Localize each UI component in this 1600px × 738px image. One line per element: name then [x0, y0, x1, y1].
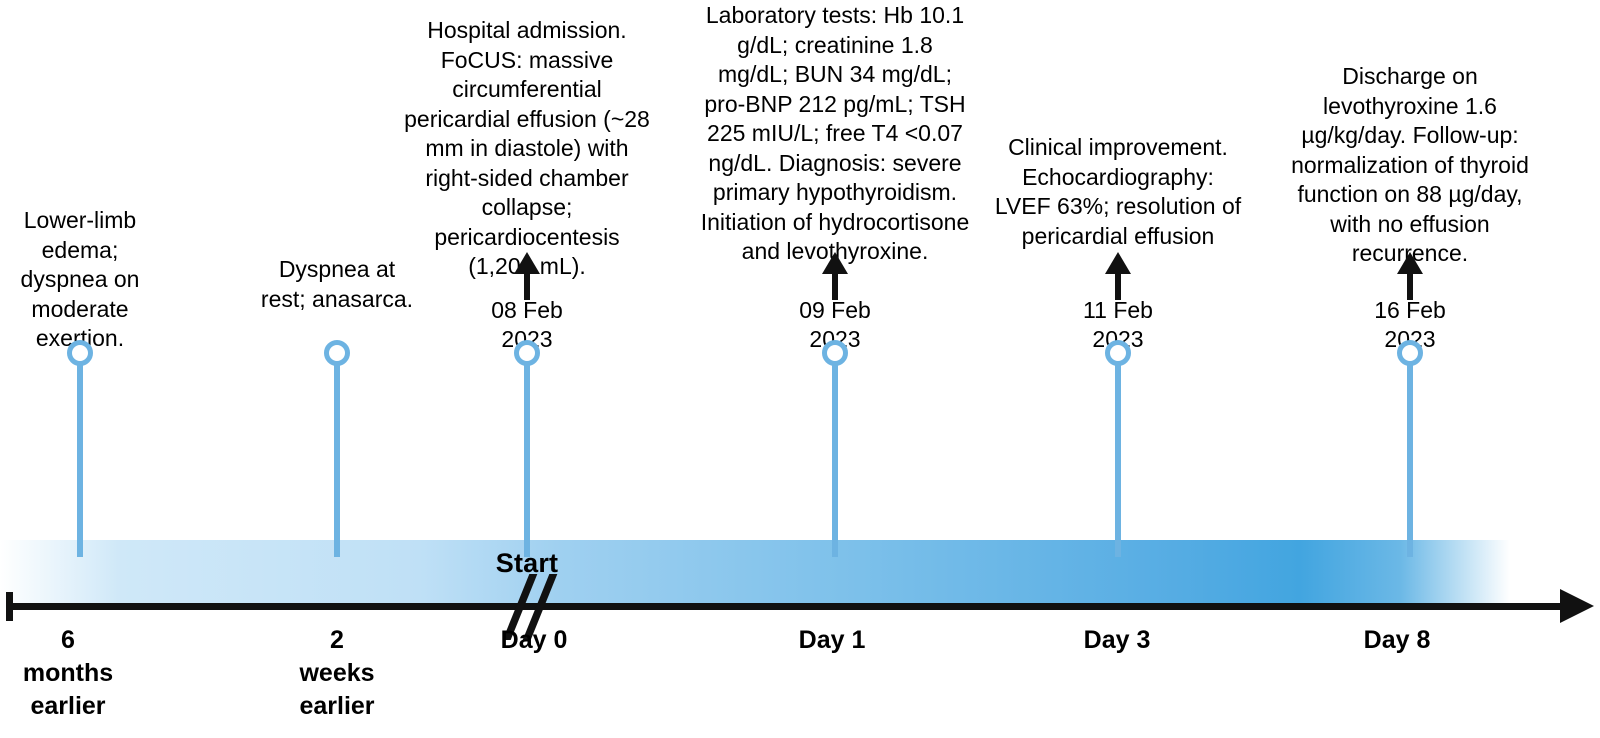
event-marker-stem: [1115, 362, 1121, 557]
timeline-axis-arrow-icon: [1560, 589, 1594, 623]
axis-tick-label: Day 0: [434, 624, 634, 657]
timeline-axis-line: [6, 603, 1568, 610]
axis-tick-label: Day 8: [1297, 624, 1497, 657]
event-marker-stem: [1407, 362, 1413, 557]
event-description: Clinical improvement. Echocardiography: …: [992, 133, 1244, 251]
event-marker-icon[interactable]: [1105, 340, 1131, 366]
timeline-diagram: Start Lower-limb edema; dyspnea on moder…: [0, 0, 1600, 738]
event-description: Dyspnea at rest; anasarca.: [257, 255, 417, 314]
event-up-arrow-icon: [1105, 252, 1131, 300]
event-description: Hospital admission. FoCUS: massive circu…: [402, 16, 652, 282]
event-marker-icon[interactable]: [67, 340, 93, 366]
event-up-arrow-icon: [1397, 252, 1423, 300]
event-up-arrow-icon: [822, 252, 848, 300]
event-marker-icon[interactable]: [514, 340, 540, 366]
event-marker-icon[interactable]: [822, 340, 848, 366]
event-description: Lower-limb edema; dyspnea on moderate ex…: [0, 206, 160, 354]
timeline-gradient-band: [0, 540, 1600, 608]
axis-tick-label: Day 1: [732, 624, 932, 657]
event-up-arrow-icon: [514, 252, 540, 300]
event-marker-icon[interactable]: [324, 340, 350, 366]
axis-tick-label: 6 months earlier: [0, 624, 168, 723]
event-marker-stem: [832, 362, 838, 557]
event-marker-stem: [334, 362, 340, 557]
event-description: Laboratory tests: Hb 10.1 g/dL; creatini…: [700, 1, 970, 267]
axis-tick-label: Day 3: [1017, 624, 1217, 657]
event-marker-stem: [524, 362, 530, 557]
event-marker-icon[interactable]: [1397, 340, 1423, 366]
event-marker-stem: [77, 362, 83, 557]
timeline-axis-start-cap: [6, 592, 13, 621]
axis-tick-label: 2 weeks earlier: [237, 624, 437, 723]
event-description: Discharge on levothyroxine 1.6 µg/kg/day…: [1279, 62, 1541, 269]
